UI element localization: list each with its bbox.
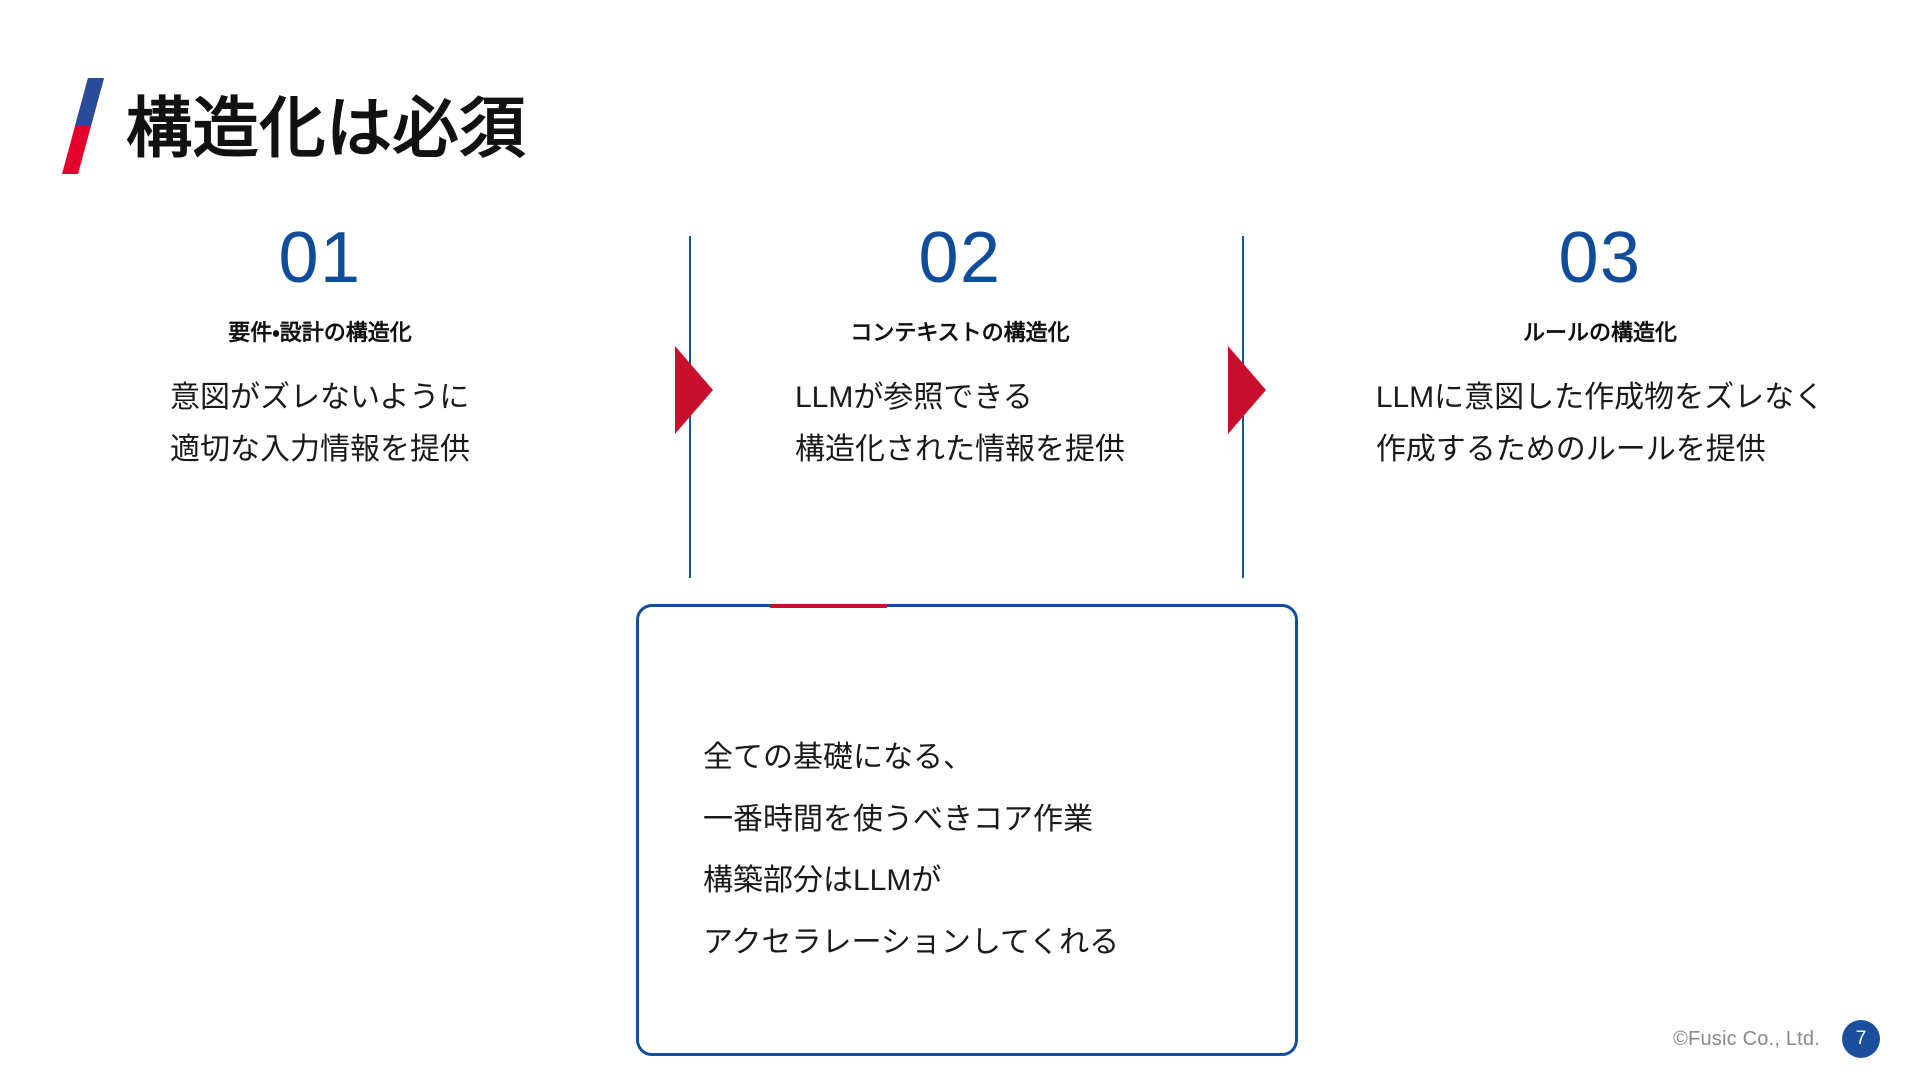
column-number: 01	[279, 222, 362, 294]
slide-footer: ©Fusic Co., Ltd. 7	[1673, 1020, 1880, 1058]
callout-accent-bar	[770, 604, 887, 608]
column-heading: コンテキストの構造化	[850, 320, 1069, 346]
column-body-line: LLMに意図した作成物をズレなく	[1376, 372, 1824, 424]
page-title: 構造化は必須	[126, 95, 526, 161]
column-body: LLMが参照できる 構造化された情報を提供	[795, 372, 1125, 475]
column-body: 意図がズレないように 適切な入力情報を提供	[170, 372, 470, 475]
column-02: 02 コンテキストの構造化 LLMが参照できる 構造化された情報を提供	[640, 222, 1280, 476]
callout-line: アクセラレーションしてくれる	[703, 912, 1119, 974]
slide-header: 構造化は必須	[62, 78, 526, 174]
column-body-line: LLMが参照できる	[795, 372, 1125, 424]
column-01: 01 要件・設計の構造化 意図がズレないように 適切な入力情報を提供	[0, 222, 640, 476]
column-body-line: 適切な入力情報を提供	[170, 424, 470, 476]
column-divider-1	[689, 236, 691, 578]
callout-line: 全ての基礎になる、	[703, 727, 1119, 789]
fusic-slash-logo-icon	[62, 78, 104, 174]
column-number: 03	[1559, 222, 1642, 294]
column-number: 02	[919, 222, 1002, 294]
column-body-line: 意図がズレないように	[170, 372, 470, 424]
callout-text: 全ての基礎になる、 一番時間を使うべきコア作業 構築部分はLLMが アクセラレー…	[703, 727, 1119, 973]
page-number-badge: 7	[1842, 1020, 1880, 1058]
slide: 構造化は必須 01 要件・設計の構造化 意図がズレないように 適切な入力情報を提…	[0, 0, 1920, 1080]
column-heading: 要件・設計の構造化	[228, 320, 411, 346]
callout-line: 一番時間を使うべきコア作業	[703, 789, 1119, 851]
column-body-line: 作成するためのルールを提供	[1376, 424, 1824, 476]
right-arrow-icon	[1228, 346, 1266, 434]
copyright-text: ©Fusic Co., Ltd.	[1673, 1028, 1820, 1051]
column-03: 03 ルールの構造化 LLMに意図した作成物をズレなく 作成するためのルールを提…	[1280, 222, 1920, 476]
column-heading: ルールの構造化	[1523, 320, 1677, 346]
callout-box: 全ての基礎になる、 一番時間を使うべきコア作業 構築部分はLLMが アクセラレー…	[636, 604, 1298, 1056]
structure-columns: 01 要件・設計の構造化 意図がズレないように 適切な入力情報を提供 02 コン…	[0, 222, 1920, 562]
column-divider-2	[1242, 236, 1244, 578]
callout-line: 構築部分はLLMが	[703, 850, 1119, 912]
column-body: LLMに意図した作成物をズレなく 作成するためのルールを提供	[1376, 372, 1824, 475]
column-body-line: 構造化された情報を提供	[795, 424, 1125, 476]
right-arrow-icon	[675, 346, 713, 434]
